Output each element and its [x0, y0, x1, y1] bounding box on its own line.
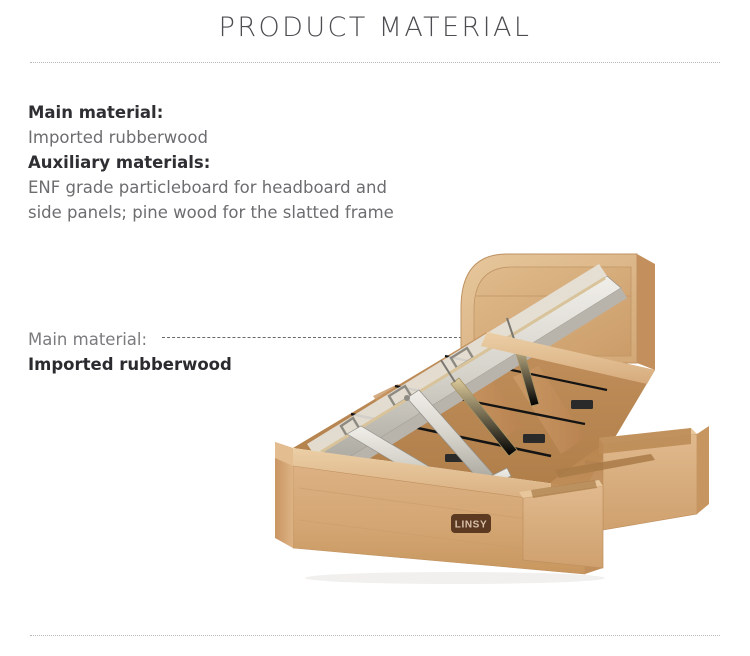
brand-badge: LINSY: [451, 514, 491, 533]
headboard-side-edge: [637, 254, 655, 370]
spec-auxiliary-materials-line2: side panels; pine wood for the slatted f…: [28, 200, 548, 225]
spec-main-material-value: Imported rubberwood: [28, 125, 548, 150]
spec-auxiliary-materials-label: Auxiliary materials:: [28, 150, 548, 175]
spec-block: Main material: Imported rubberwood Auxil…: [28, 100, 548, 225]
spec-main-material-label: Main material:: [28, 100, 548, 125]
product-image-storage-bed: LINSY: [255, 238, 725, 598]
page-title: PRODUCT MATERIAL: [0, 12, 750, 43]
spec-auxiliary-materials-line1: ENF grade particleboard for headboard an…: [28, 175, 548, 200]
cavity-bracket-2: [523, 434, 545, 443]
pivot-bolt-3: [404, 395, 410, 401]
drawer-rear-side: [697, 426, 709, 514]
drawer-front-face: [523, 486, 603, 568]
divider-top: [30, 62, 720, 63]
cavity-bracket-1: [571, 400, 593, 409]
brand-badge-text: LINSY: [455, 520, 487, 531]
divider-bottom: [30, 635, 720, 636]
storage-bed-illustration: LINSY: [255, 238, 725, 598]
ground-shadow: [305, 572, 605, 584]
